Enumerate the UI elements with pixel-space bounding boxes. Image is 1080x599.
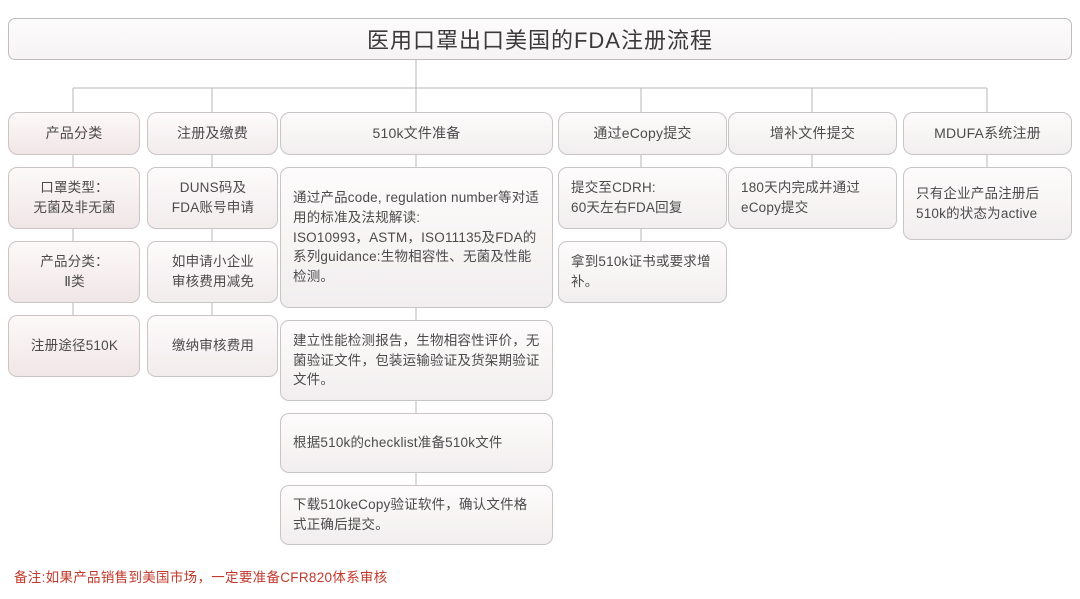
step-node[interactable]: 提交至CDRH: 60天左右FDA回复 <box>558 167 727 229</box>
step-node[interactable]: 通过产品code, regulation number等对适用的标准及法规解读:… <box>280 167 553 308</box>
step-text: 通过产品code, regulation number等对适用的标准及法规解读:… <box>293 188 541 288</box>
step-node[interactable]: 口罩类型： 无菌及非无菌 <box>8 167 140 229</box>
step-text: 缴纳审核费用 <box>160 336 266 356</box>
step-node[interactable]: 产品分类： Ⅱ类 <box>8 241 140 303</box>
step-text: DUNS码及 FDA账号申请 <box>160 178 266 218</box>
step-node[interactable]: 下载510keCopy验证软件，确认文件格式正确后提交。 <box>280 485 553 545</box>
step-text: 建立性能检测报告，生物相容性评价，无菌验证文件，包装运输验证及货架期验证文件。 <box>293 331 541 391</box>
page-title-text: 医用口罩出口美国的FDA注册流程 <box>367 23 713 55</box>
step-node[interactable]: 只有企业产品注册后510k的状态为active <box>903 167 1072 240</box>
column-header-supplemental-document-submission[interactable]: 增补文件提交 <box>728 112 897 155</box>
step-text: 产品分类： Ⅱ类 <box>21 252 128 292</box>
step-node[interactable]: 180天内完成并通过eCopy提交 <box>728 167 897 229</box>
column-header-label: MDUFA系统注册 <box>934 123 1041 144</box>
step-text: 只有企业产品注册后510k的状态为active <box>916 184 1060 224</box>
step-text: 根据510k的checklist准备510k文件 <box>293 433 541 453</box>
step-node[interactable]: DUNS码及 FDA账号申请 <box>147 167 278 229</box>
column-header-submit-via-ecopy[interactable]: 通过eCopy提交 <box>558 112 727 155</box>
step-node[interactable]: 注册途径510K <box>8 315 140 377</box>
step-node[interactable]: 缴纳审核费用 <box>147 315 278 377</box>
column-header-label: 增补文件提交 <box>770 123 855 144</box>
step-node[interactable]: 根据510k的checklist准备510k文件 <box>280 413 553 473</box>
step-text: 下载510keCopy验证软件，确认文件格式正确后提交。 <box>293 495 541 535</box>
page-title: 医用口罩出口美国的FDA注册流程 <box>8 18 1072 60</box>
step-text: 180天内完成并通过eCopy提交 <box>741 178 885 218</box>
column-header-label: 产品分类 <box>46 123 103 144</box>
step-text: 口罩类型： 无菌及非无菌 <box>21 178 128 218</box>
step-text: 拿到510k证书或要求增补。 <box>571 252 715 292</box>
column-header-label: 注册及缴费 <box>177 123 248 144</box>
column-header-registration-and-fees[interactable]: 注册及缴费 <box>147 112 278 155</box>
column-header-mdufa-system-registration[interactable]: MDUFA系统注册 <box>903 112 1072 155</box>
column-header-product-classification[interactable]: 产品分类 <box>8 112 140 155</box>
step-node[interactable]: 拿到510k证书或要求增补。 <box>558 241 727 303</box>
column-header-label: 510k文件准备 <box>373 123 461 144</box>
step-text: 提交至CDRH: 60天左右FDA回复 <box>571 178 715 218</box>
step-node[interactable]: 建立性能检测报告，生物相容性评价，无菌验证文件，包装运输验证及货架期验证文件。 <box>280 320 553 401</box>
step-node[interactable]: 如申请小企业 审核费用减免 <box>147 241 278 303</box>
step-text: 注册途径510K <box>21 336 128 356</box>
flowchart-canvas: 医用口罩出口美国的FDA注册流程 产品分类 口罩类型： 无菌及非无菌 产品分类：… <box>0 0 1080 599</box>
footer-note: 备注:如果产品销售到美国市场，一定要准备CFR820体系审核 <box>14 566 388 586</box>
column-header-510k-document-prep[interactable]: 510k文件准备 <box>280 112 553 155</box>
step-text: 如申请小企业 审核费用减免 <box>160 252 266 292</box>
column-header-label: 通过eCopy提交 <box>593 123 691 144</box>
